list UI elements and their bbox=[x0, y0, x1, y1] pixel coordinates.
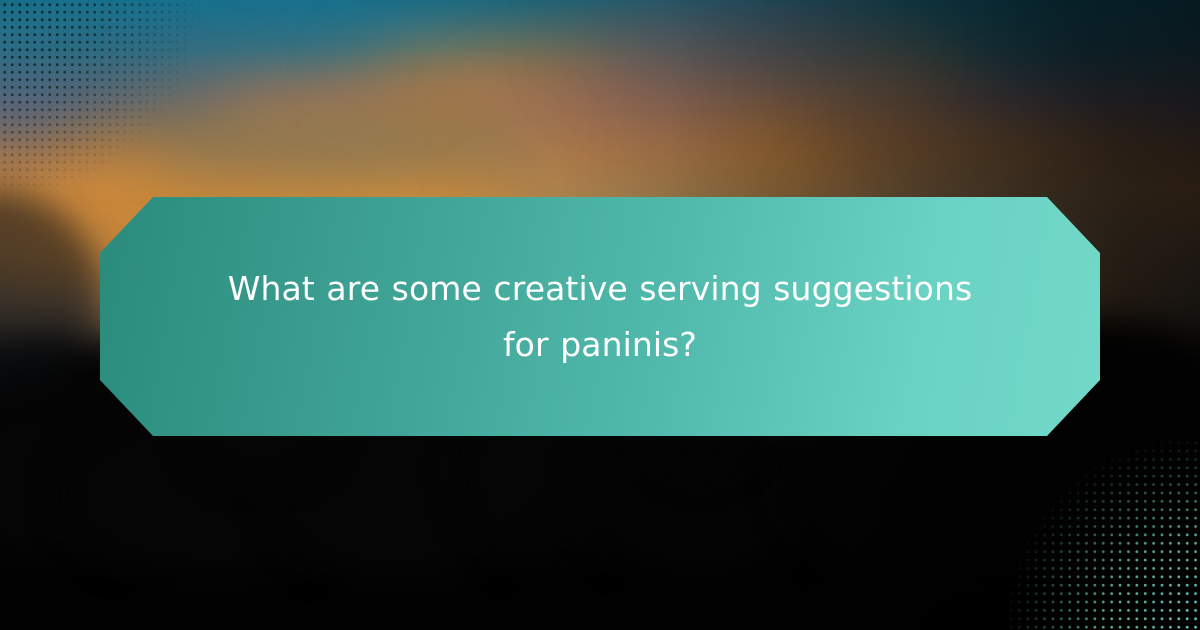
question-text: What are some creative serving suggestio… bbox=[205, 261, 995, 373]
question-card: What are some creative serving suggestio… bbox=[100, 197, 1100, 436]
question-card-canvas: What are some creative serving suggestio… bbox=[0, 0, 1200, 630]
